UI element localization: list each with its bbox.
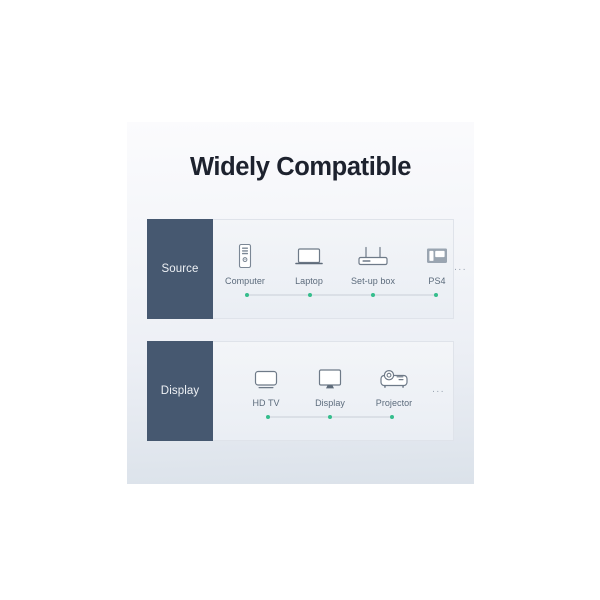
display-panel: Display HD TV xyxy=(147,341,454,441)
compatibility-card: Widely Compatible Source xyxy=(127,122,474,484)
connector-node xyxy=(434,293,438,297)
source-panel: Source xyxy=(147,219,454,319)
device-label: Laptop xyxy=(295,276,323,286)
source-overflow-ellipsis: ... xyxy=(454,263,467,273)
source-panel-label: Source xyxy=(147,219,213,319)
device-label: Projector xyxy=(376,398,412,408)
display-device-row: HD TV Display xyxy=(213,363,447,408)
projector-icon xyxy=(377,363,411,393)
device-laptop[interactable]: Laptop xyxy=(277,241,341,286)
display-panel-body: HD TV Display xyxy=(213,342,453,440)
laptop-icon xyxy=(293,241,325,271)
connector-node xyxy=(328,415,332,419)
page-title: Widely Compatible xyxy=(127,155,474,181)
device-setup-box[interactable]: Set-up box xyxy=(341,241,405,286)
device-label: Display xyxy=(315,398,345,408)
display-connector-track xyxy=(213,412,447,422)
connector-line xyxy=(246,294,437,295)
display-panel-label: Display xyxy=(147,341,213,441)
desktop-tower-icon xyxy=(235,241,255,271)
device-computer[interactable]: Computer xyxy=(213,241,277,286)
device-label: Set-up box xyxy=(351,276,395,286)
connector-node xyxy=(308,293,312,297)
game-console-icon xyxy=(423,241,451,271)
device-projector[interactable]: Projector xyxy=(362,363,426,408)
connector-node xyxy=(390,415,394,419)
display-overflow-ellipsis: ... xyxy=(432,385,445,395)
tv-icon xyxy=(250,363,282,393)
device-label: PS4 xyxy=(428,276,445,286)
connector-node xyxy=(266,415,270,419)
device-display[interactable]: Display xyxy=(298,363,362,408)
connector-node xyxy=(245,293,249,297)
device-hd-tv[interactable]: HD TV xyxy=(234,363,298,408)
device-label: HD TV xyxy=(252,398,279,408)
monitor-icon xyxy=(314,363,346,393)
source-device-row: Computer Laptop xyxy=(213,241,469,286)
router-icon xyxy=(355,241,391,271)
source-connector-track xyxy=(213,290,469,300)
device-label: Computer xyxy=(225,276,265,286)
connector-node xyxy=(371,293,375,297)
promo-image-canvas: Widely Compatible Source xyxy=(0,0,600,600)
source-panel-body: Computer Laptop xyxy=(213,220,475,318)
